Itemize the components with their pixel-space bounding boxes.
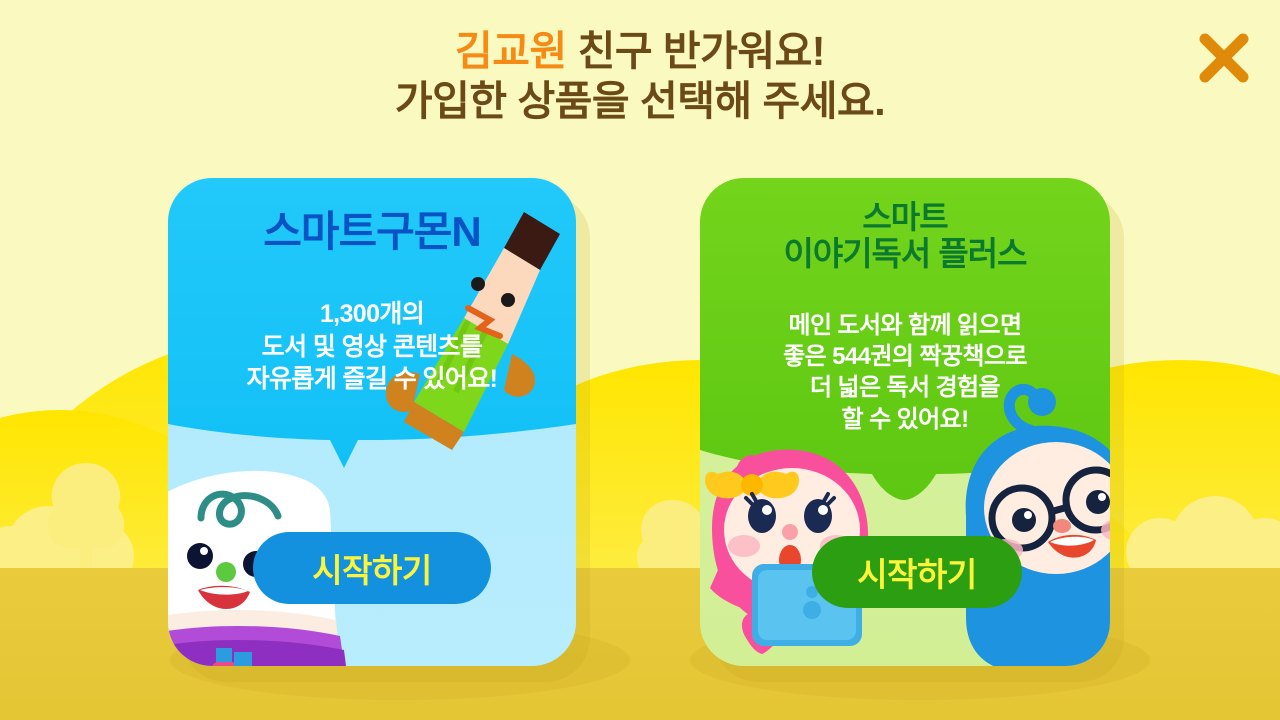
card-title-smart-guomon: 스마트구몬N [168, 208, 576, 255]
subtitle: 가입한 상품을 선택해 주세요. [0, 76, 1280, 126]
close-button[interactable] [1190, 24, 1258, 92]
card-description-story-reading: 메인 도서와 함께 읽으면 좋은 544권의 짝꿍책으로 더 넓은 독서 경험을… [700, 310, 1110, 435]
page-title: 김교원 친구 반가워요! 가입한 상품을 선택해 주세요. [0, 26, 1280, 126]
start-button-smart-guomon[interactable]: 시작하기 [253, 532, 491, 604]
product-card-smart-guomon[interactable]: 스마트구몬N 1,300개의 도서 및 영상 콘텐츠를 자유롭게 즐길 수 있어… [168, 178, 576, 666]
product-card-story-reading[interactable]: 스마트 이야기독서 플러스 메인 도서와 함께 읽으면 좋은 544권의 짝꿍책… [700, 178, 1110, 666]
card-description-smart-guomon: 1,300개의 도서 및 영상 콘텐츠를 자유롭게 즐길 수 있어요! [168, 298, 576, 396]
card-title-story-reading: 스마트 이야기독서 플러스 [700, 200, 1110, 273]
close-icon [1190, 24, 1258, 92]
product-selection-screen: 김교원 친구 반가워요! 가입한 상품을 선택해 주세요. [0, 0, 1280, 720]
greeting-rest: 친구 반가워요! [567, 28, 825, 74]
user-name-highlight: 김교원 [455, 28, 567, 74]
start-button-story-reading[interactable]: 시작하기 [812, 536, 1022, 608]
